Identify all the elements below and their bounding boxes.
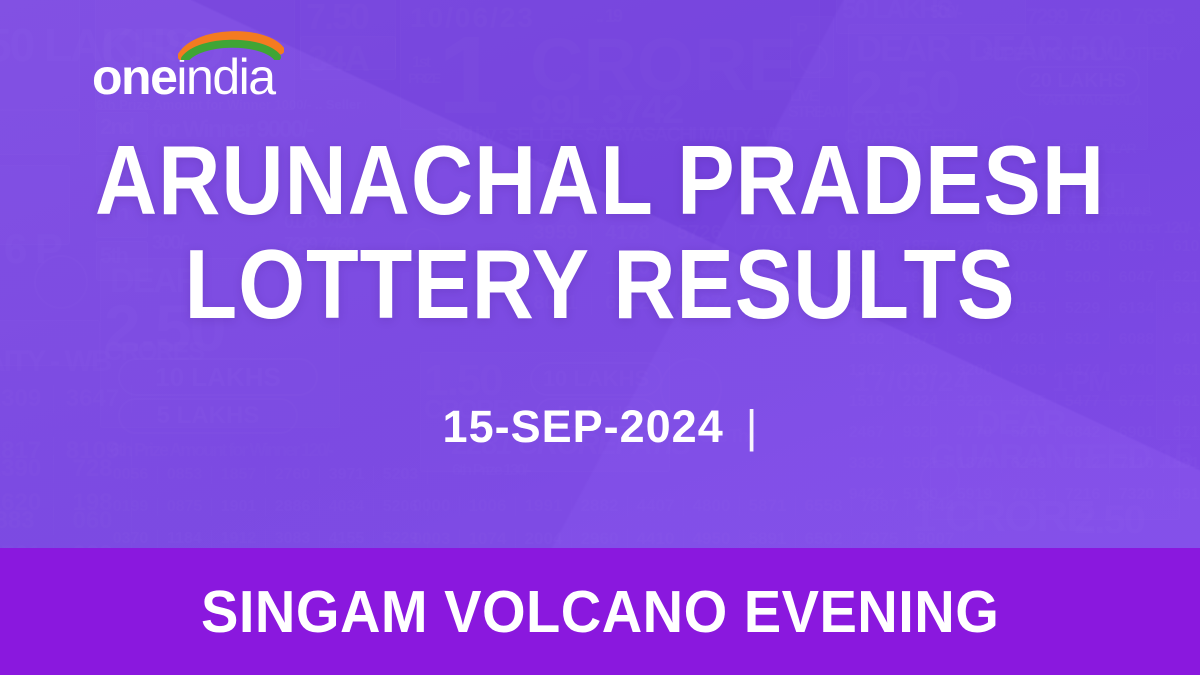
lottery-name-banner: SINGAM VOLCANO EVENING xyxy=(0,548,1200,675)
logo-text-one: one xyxy=(92,49,176,105)
lottery-name: SINGAM VOLCANO EVENING xyxy=(201,581,999,643)
date-separator: | xyxy=(746,403,758,451)
result-date-row: 15-SEP-2024 | xyxy=(0,403,1200,451)
page-title: ARUNACHAL PRADESH LOTTERY RESULTS xyxy=(0,128,1200,336)
tricolor-arc-icon xyxy=(178,26,284,60)
headline-line-2: LOTTERY RESULTS xyxy=(72,232,1128,336)
oneindia-logo[interactable]: oneindia xyxy=(92,40,275,102)
result-date: 15-SEP-2024 xyxy=(443,403,724,451)
headline-line-1: ARUNACHAL PRADESH xyxy=(72,128,1128,232)
lottery-result-poster: 50 LAKHS 6 P AITY - WB 13093647181781091… xyxy=(0,0,1200,675)
